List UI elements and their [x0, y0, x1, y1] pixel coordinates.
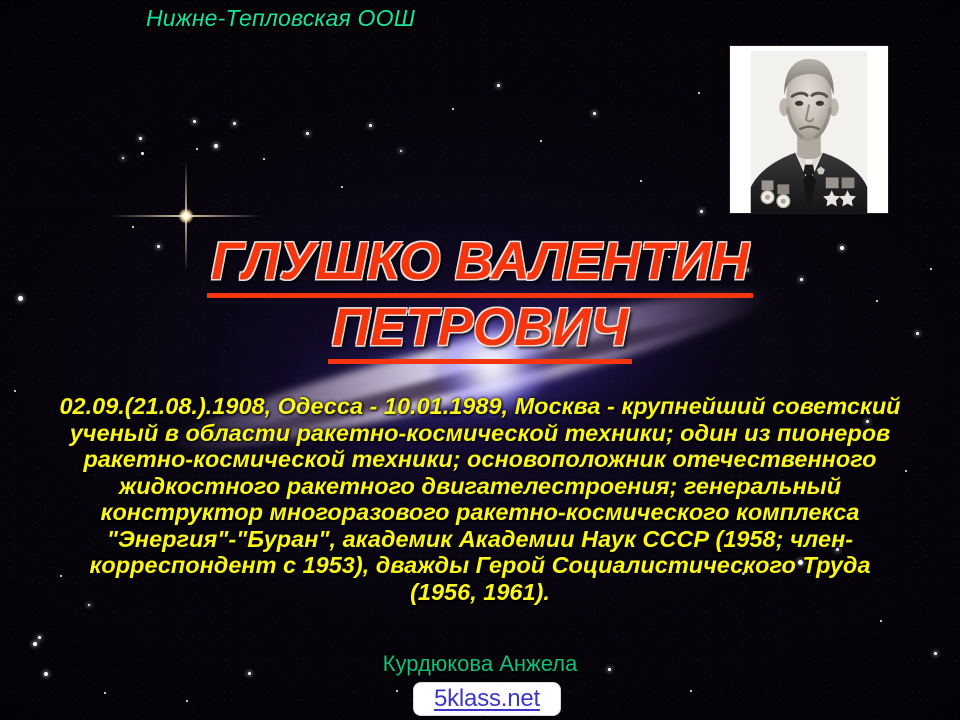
star: [233, 122, 236, 125]
star: [132, 226, 134, 228]
watermark-link[interactable]: 5klass.net: [434, 685, 540, 713]
title-line-2: ПЕТРОВИЧ: [328, 298, 632, 364]
star: [196, 148, 198, 150]
star: [122, 157, 124, 159]
school-name-header: Нижне-Тепловская ООШ: [146, 5, 415, 32]
star: [186, 700, 188, 702]
star: [540, 140, 542, 142]
star: [698, 92, 700, 94]
star: [341, 186, 343, 188]
star: [263, 158, 265, 160]
star-core: [179, 209, 193, 223]
star: [214, 144, 218, 148]
star: [880, 620, 882, 622]
star: [33, 642, 37, 646]
star-spike-horizontal: [111, 215, 261, 217]
star: [700, 210, 703, 213]
star: [141, 152, 144, 155]
star: [38, 636, 41, 639]
star: [104, 692, 106, 694]
watermark-box[interactable]: 5klass.net: [414, 683, 560, 715]
star: [139, 137, 142, 140]
star: [640, 180, 642, 182]
star: [905, 470, 907, 472]
star: [452, 108, 454, 110]
star: [14, 390, 16, 392]
star: [400, 150, 402, 152]
star: [306, 132, 309, 135]
presentation-slide: Нижне-Тепловская ООШ: [0, 0, 960, 720]
bright-star: [185, 215, 186, 216]
star: [497, 84, 500, 87]
star: [396, 690, 398, 692]
slide-title: ГЛУШКО ВАЛЕНТИН ПЕТРОВИЧ: [0, 232, 960, 364]
portrait-photo: [729, 45, 889, 214]
star: [193, 120, 196, 123]
title-line-1: ГЛУШКО ВАЛЕНТИН: [207, 232, 753, 298]
star: [593, 112, 596, 115]
author-credit: Курдюкова Анжела: [0, 651, 960, 677]
star: [690, 690, 692, 692]
portrait-illustration: [730, 46, 888, 213]
star: [369, 124, 372, 127]
biography-text: 02.09.(21.08.).1908, Одесса - 10.01.1989…: [58, 393, 902, 605]
